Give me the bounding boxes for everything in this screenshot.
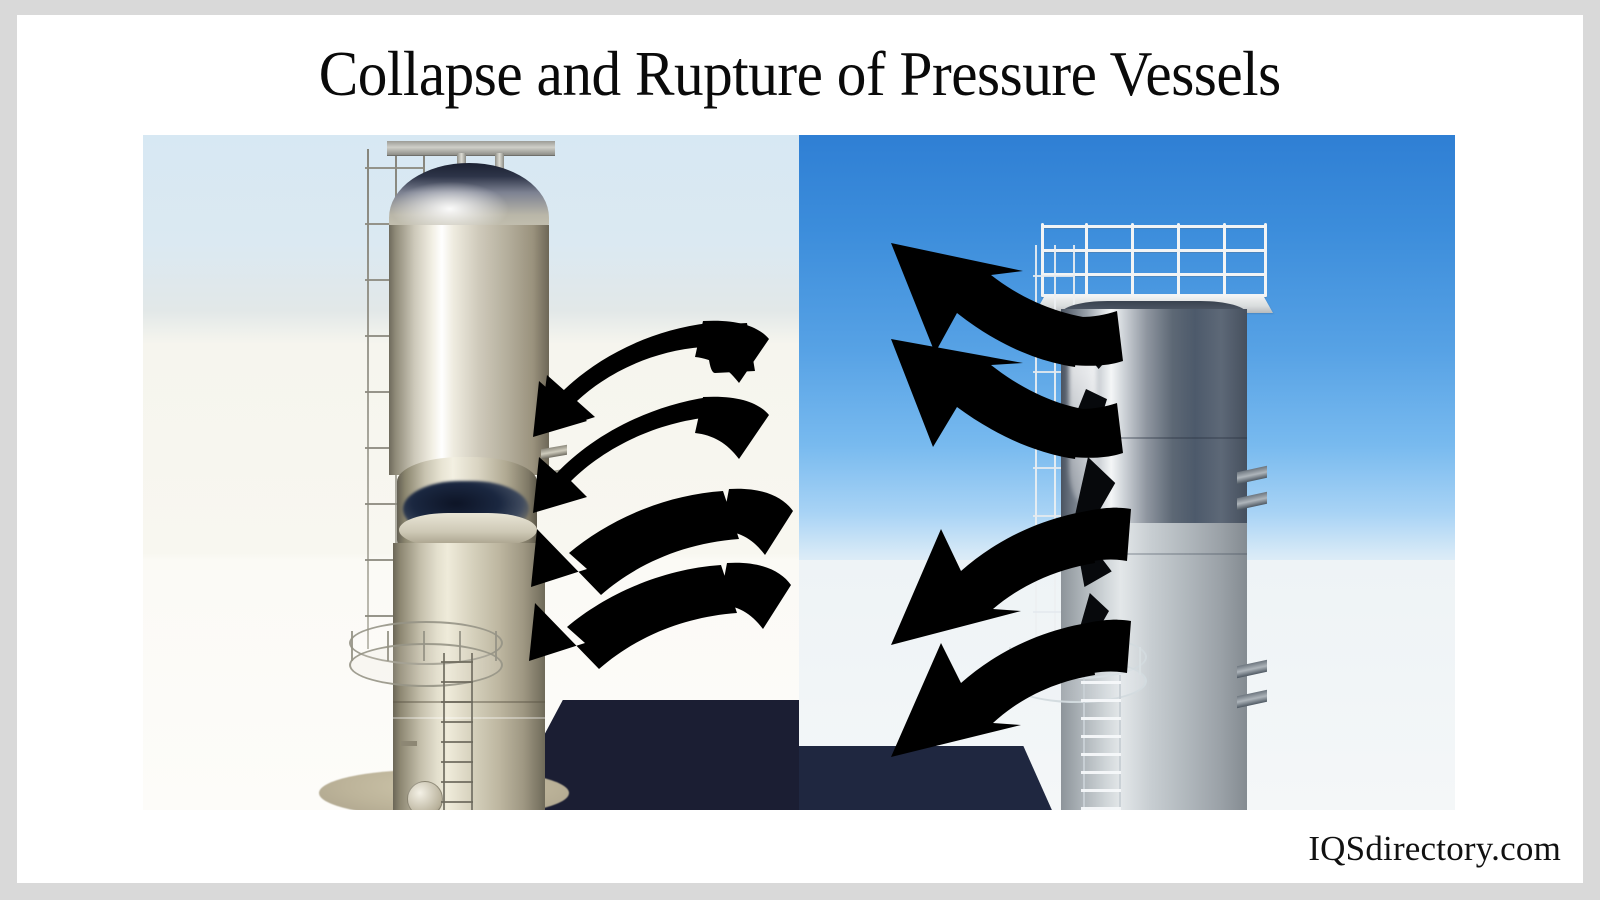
vessel-small-nozzle-left: [401, 741, 417, 746]
figure-strip: [143, 135, 1455, 810]
vessel-top-deck-left: [387, 141, 555, 155]
page-title: Collapse and Rupture of Pressure Vessels: [319, 43, 1281, 106]
front-ladder-left: [441, 653, 475, 810]
poster-card: Collapse and Rupture of Pressure Vessels: [17, 15, 1583, 883]
collapsed-vessel: [345, 141, 551, 810]
panel-rupture: [799, 135, 1455, 810]
vessel-manway-left: [407, 781, 443, 810]
front-ladder-right: [1081, 675, 1123, 810]
site-attribution: IQSdirectory.com: [1308, 829, 1561, 869]
collapse-dent-lip: [399, 513, 537, 547]
title-bar: Collapse and Rupture of Pressure Vessels: [17, 15, 1583, 133]
platform-ring-left: [349, 621, 499, 683]
vessel-shell-upper-left: [389, 225, 549, 475]
floor-shadow-right: [799, 746, 1059, 810]
panel-collapse: [143, 135, 799, 810]
ruptured-vessel: [1023, 223, 1275, 810]
